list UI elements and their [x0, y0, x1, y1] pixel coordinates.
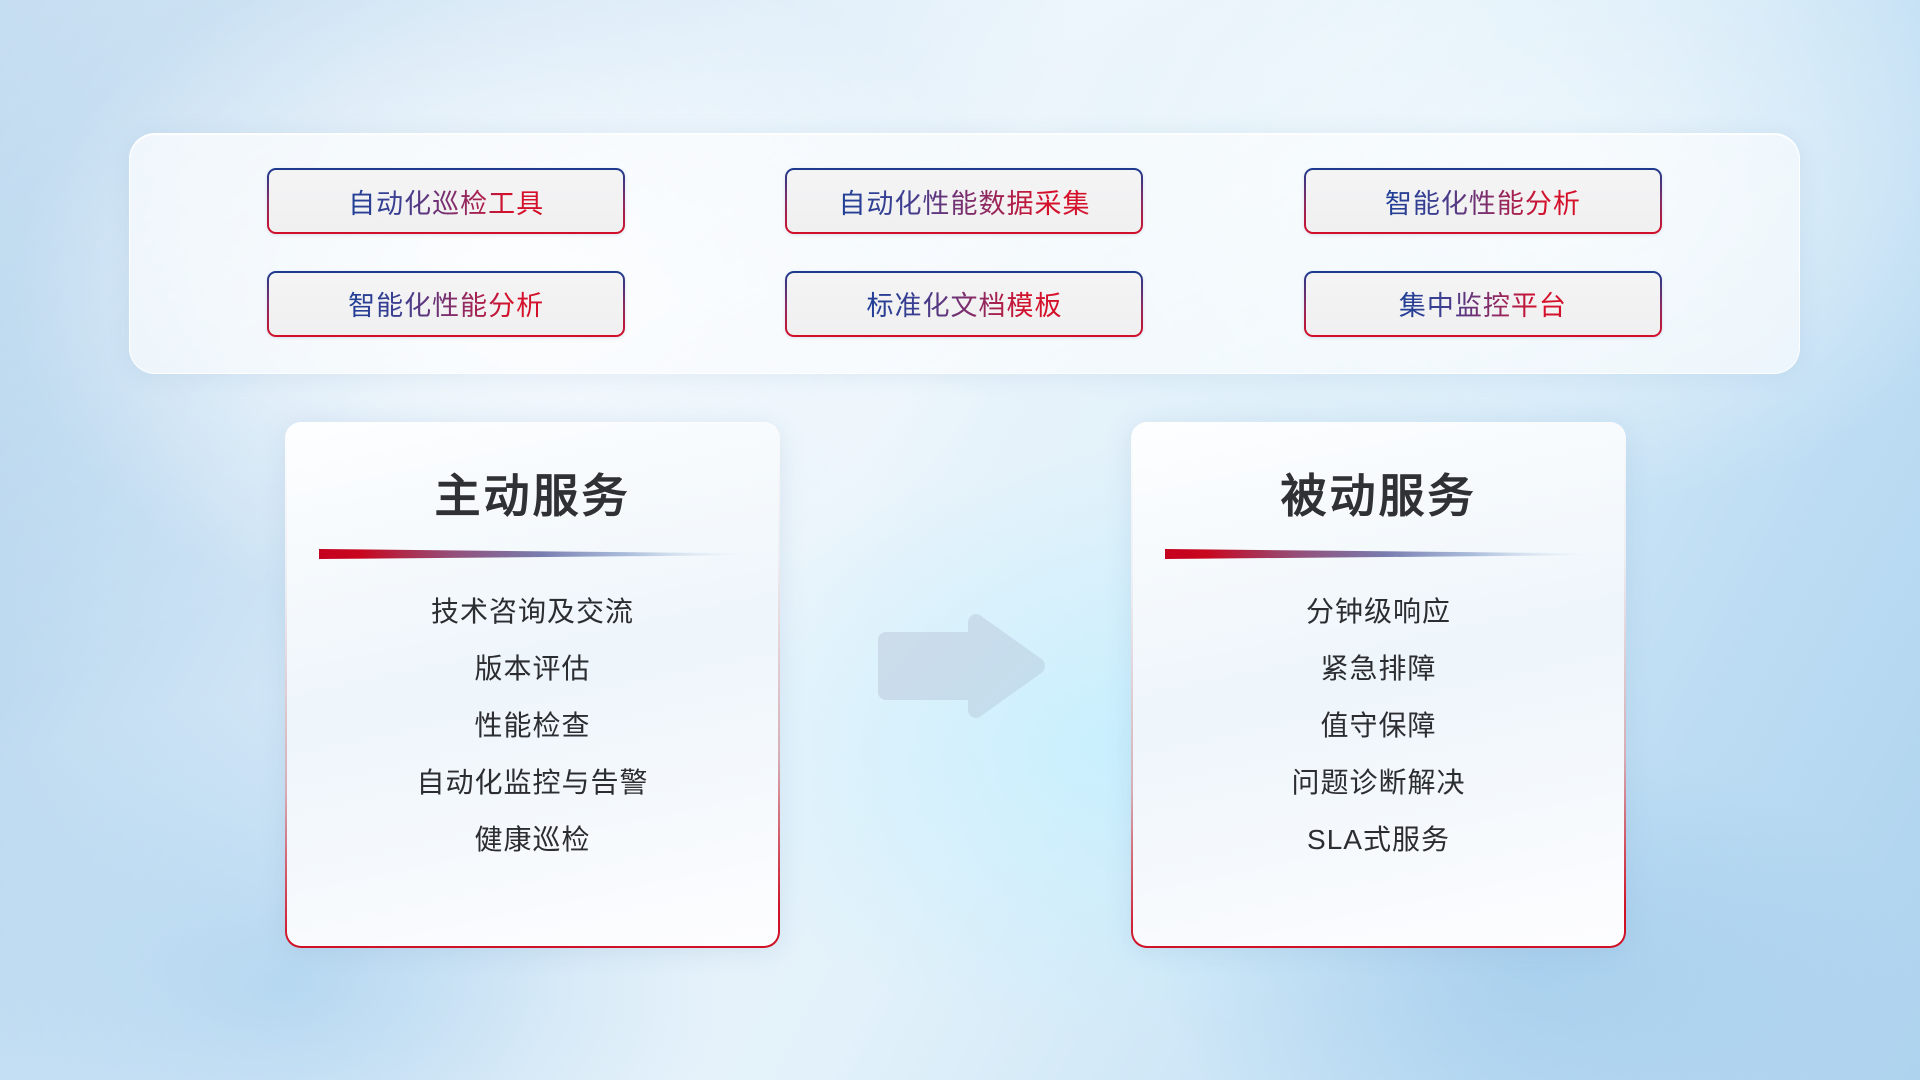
service-card-reactive[interactable]: 被动服务 [1131, 422, 1626, 948]
service-card-reactive-list: 分钟级响应 紧急排障 值守保障 问题诊断解决 SLA式服务 [1133, 584, 1624, 869]
service-card-reactive-title: 被动服务 [1281, 460, 1477, 526]
service-card-reactive-divider [1165, 548, 1593, 560]
capability-tag-5-inner: 标准化文档模板 [787, 273, 1141, 335]
service-card-proactive-title: 主动服务 [435, 460, 631, 526]
capability-tag-6-label: 集中监控平台 [1399, 284, 1567, 323]
capability-tag-cell-6: 集中监控平台 [1263, 264, 1703, 345]
capability-tag-4[interactable]: 智能化性能分析 [267, 271, 625, 337]
service-item[interactable]: 值守保障 [1320, 698, 1436, 755]
service-item[interactable]: 分钟级响应 [1306, 584, 1451, 641]
capability-tag-6[interactable]: 集中监控平台 [1304, 271, 1662, 337]
arrow-right-icon [872, 608, 1048, 724]
service-card-reactive-body: 被动服务 [1133, 424, 1624, 946]
diagram-stage: 自动化巡检工具 自动化性能数据采集 智能化性能分析 [0, 0, 1920, 1080]
capability-tag-2[interactable]: 自动化性能数据采集 [785, 168, 1143, 234]
capability-tag-cell-1: 自动化巡检工具 [226, 161, 666, 242]
service-card-proactive-divider [319, 548, 747, 560]
service-item[interactable]: 版本评估 [474, 641, 590, 698]
capability-tag-4-inner: 智能化性能分析 [269, 273, 623, 335]
capability-tag-cell-4: 智能化性能分析 [226, 264, 666, 345]
service-item[interactable]: 健康巡检 [474, 812, 590, 869]
capability-tag-cell-2: 自动化性能数据采集 [744, 161, 1184, 242]
service-item[interactable]: 紧急排障 [1320, 641, 1436, 698]
capability-tag-cell-3: 智能化性能分析 [1263, 161, 1703, 242]
capability-tag-5[interactable]: 标准化文档模板 [785, 271, 1143, 337]
capability-tag-1-inner: 自动化巡检工具 [269, 170, 623, 232]
capability-tag-6-inner: 集中监控平台 [1306, 273, 1660, 335]
capability-tag-3-label: 智能化性能分析 [1385, 182, 1581, 221]
capability-tag-1[interactable]: 自动化巡检工具 [267, 168, 625, 234]
service-item[interactable]: 技术咨询及交流 [431, 584, 634, 641]
service-card-proactive-list: 技术咨询及交流 版本评估 性能检查 自动化监控与告警 健康巡检 [287, 584, 778, 869]
capability-tag-2-inner: 自动化性能数据采集 [787, 170, 1141, 232]
service-item[interactable]: 自动化监控与告警 [416, 755, 648, 812]
capability-tag-1-label: 自动化巡检工具 [348, 182, 544, 221]
capability-tag-4-label: 智能化性能分析 [348, 284, 544, 323]
capability-tag-3[interactable]: 智能化性能分析 [1304, 168, 1662, 234]
capability-tags-grid: 自动化巡检工具 自动化性能数据采集 智能化性能分析 [130, 134, 1799, 373]
capability-tag-5-label: 标准化文档模板 [866, 284, 1062, 323]
capability-tag-3-inner: 智能化性能分析 [1306, 170, 1660, 232]
capability-tag-2-label: 自动化性能数据采集 [838, 182, 1090, 221]
service-card-proactive[interactable]: 主动服务 [285, 422, 780, 948]
service-item[interactable]: SLA式服务 [1307, 812, 1450, 869]
capability-tag-cell-5: 标准化文档模板 [744, 264, 1184, 345]
capability-tags-panel: 自动化巡检工具 自动化性能数据采集 智能化性能分析 [129, 133, 1800, 374]
service-item[interactable]: 性能检查 [474, 698, 590, 755]
service-card-proactive-body: 主动服务 [287, 424, 778, 946]
service-item[interactable]: 问题诊断解决 [1291, 755, 1465, 812]
